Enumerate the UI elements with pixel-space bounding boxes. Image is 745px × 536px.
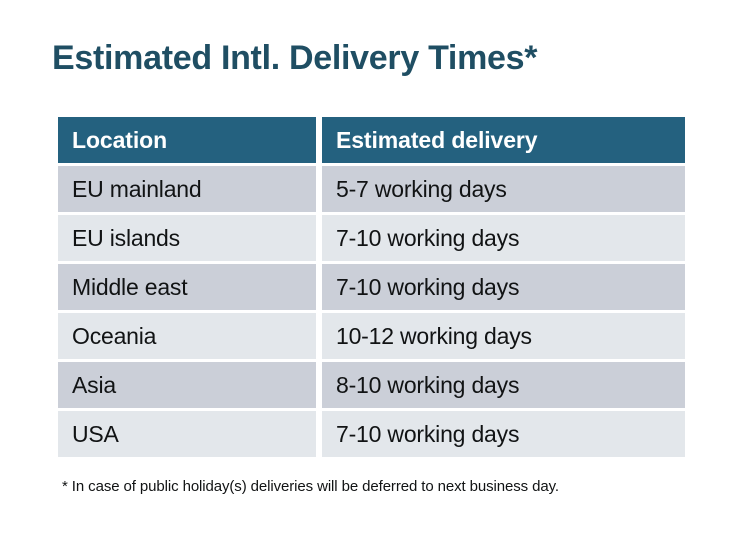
cell-delivery: 8-10 working days (322, 362, 685, 408)
table-body: EU mainland 5-7 working days EU islands … (58, 166, 685, 457)
table-header: Location Estimated delivery (58, 117, 685, 163)
table-header-row: Location Estimated delivery (58, 117, 685, 163)
cell-delivery: 7-10 working days (322, 215, 685, 261)
cell-location: Oceania (58, 313, 316, 359)
table-row: USA 7-10 working days (58, 411, 685, 457)
cell-delivery: 7-10 working days (322, 411, 685, 457)
table-row: Oceania 10-12 working days (58, 313, 685, 359)
cell-location: Asia (58, 362, 316, 408)
column-header-estimated-delivery: Estimated delivery (322, 117, 685, 163)
cell-delivery: 10-12 working days (322, 313, 685, 359)
table-row: Middle east 7-10 working days (58, 264, 685, 310)
cell-delivery: 5-7 working days (322, 166, 685, 212)
cell-location: Middle east (58, 264, 316, 310)
cell-location: EU islands (58, 215, 316, 261)
column-header-location: Location (58, 117, 316, 163)
table-row: EU mainland 5-7 working days (58, 166, 685, 212)
estimated-delivery-times-table: Location Estimated delivery EU mainland … (52, 114, 691, 460)
table-row: EU islands 7-10 working days (58, 215, 685, 261)
page-title: Estimated Intl. Delivery Times* (52, 37, 537, 79)
cell-delivery: 7-10 working days (322, 264, 685, 310)
cell-location: USA (58, 411, 316, 457)
cell-location: EU mainland (58, 166, 316, 212)
table-row: Asia 8-10 working days (58, 362, 685, 408)
table-footnote: * In case of public holiday(s) deliverie… (62, 478, 559, 495)
delivery-times-page: Estimated Intl. Delivery Times* Location… (0, 0, 745, 536)
